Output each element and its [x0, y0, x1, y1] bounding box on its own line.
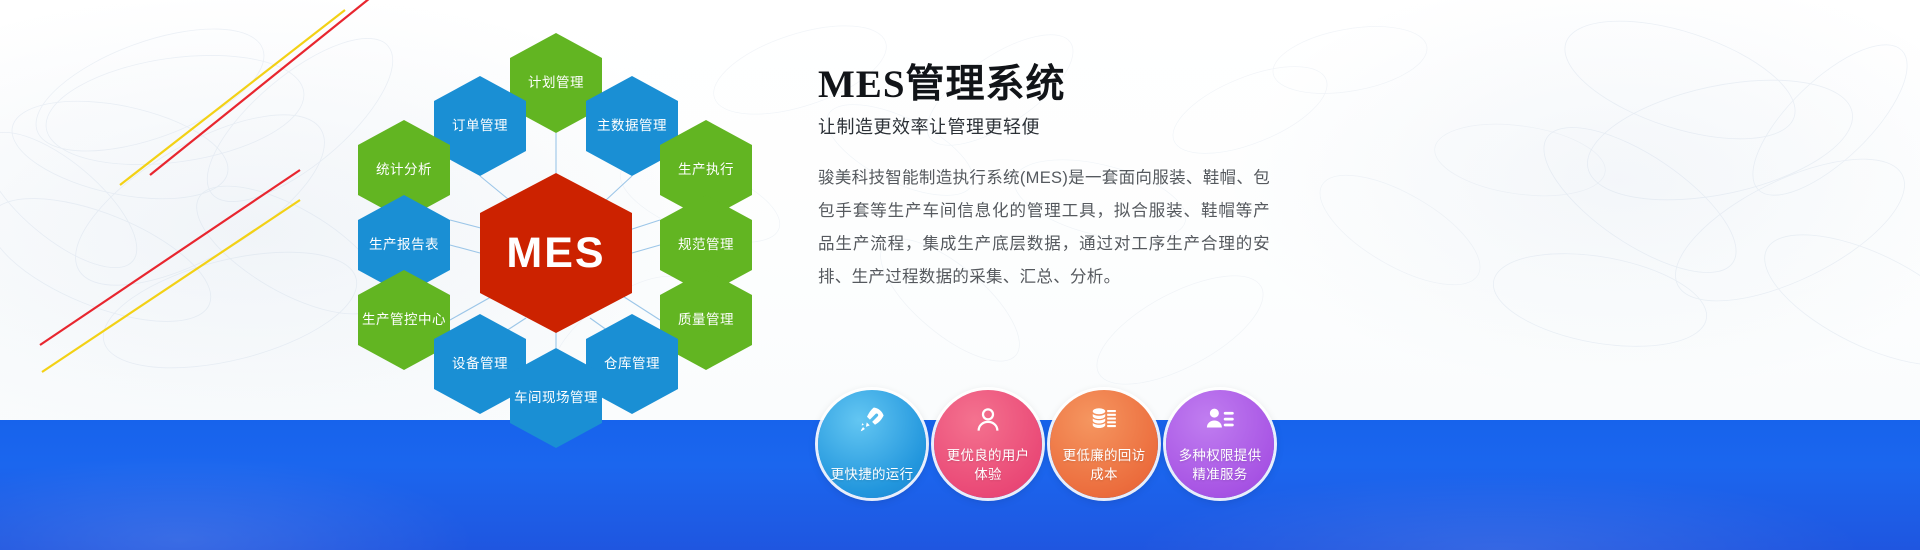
contacts-icon: [1203, 403, 1237, 437]
coins-icon: [1087, 403, 1121, 437]
hex-node-label: 订单管理: [448, 118, 512, 134]
hex-core-label: MES: [502, 230, 609, 276]
feature-badge-label: 多种权限提供精准服务: [1166, 446, 1274, 484]
feature-badge-2[interactable]: 更优良的用户体验: [934, 390, 1042, 498]
page-title: MES管理系统: [818, 62, 1288, 108]
page-subtitle: 让制造更效率让管理更轻便: [818, 114, 1288, 140]
feature-badge-1[interactable]: 更快捷的运行: [818, 390, 926, 498]
feature-badge-label: 更低廉的回访成本: [1050, 446, 1158, 484]
description-paragraph: 骏美科技智能制造执行系统(MES)是一套面向服装、鞋帽、包包手套等生产车间信息化…: [818, 162, 1270, 294]
hex-node-label: 计划管理: [524, 75, 588, 91]
hex-node-label: 车间现场管理: [510, 390, 602, 406]
feature-badge-label: 更快捷的运行: [823, 465, 922, 484]
rocket-icon: [855, 403, 889, 437]
mes-hexagon-diagram: MES计划管理订单管理主数据管理统计分析生产执行生产报告表规范管理生产管控中心质…: [330, 18, 800, 428]
hex-node-label: 主数据管理: [593, 118, 671, 134]
hex-node-label: 质量管理: [674, 312, 738, 328]
hex-node-label: 设备管理: [448, 356, 512, 372]
feature-badge-list: 更快捷的运行更优良的用户体验更低廉的回访成本多种权限提供精准服务: [818, 390, 1288, 520]
hex-node-label: 统计分析: [372, 162, 436, 178]
hex-node-label: 生产管控中心: [358, 312, 450, 328]
hex-node-label: 仓库管理: [600, 356, 664, 372]
hex-node-label: 生产执行: [674, 162, 738, 178]
feature-badge-3[interactable]: 更低廉的回访成本: [1050, 390, 1158, 498]
user-icon: [971, 403, 1005, 437]
hex-node-label: 生产报告表: [365, 237, 443, 253]
hero-copy: MES管理系统 让制造更效率让管理更轻便 骏美科技智能制造执行系统(MES)是一…: [818, 62, 1288, 294]
mes-hero-banner: MES计划管理订单管理主数据管理统计分析生产执行生产报告表规范管理生产管控中心质…: [0, 0, 1920, 550]
hex-node-label: 规范管理: [674, 237, 738, 253]
feature-badge-4[interactable]: 多种权限提供精准服务: [1166, 390, 1274, 498]
feature-badge-label: 更优良的用户体验: [934, 446, 1042, 484]
